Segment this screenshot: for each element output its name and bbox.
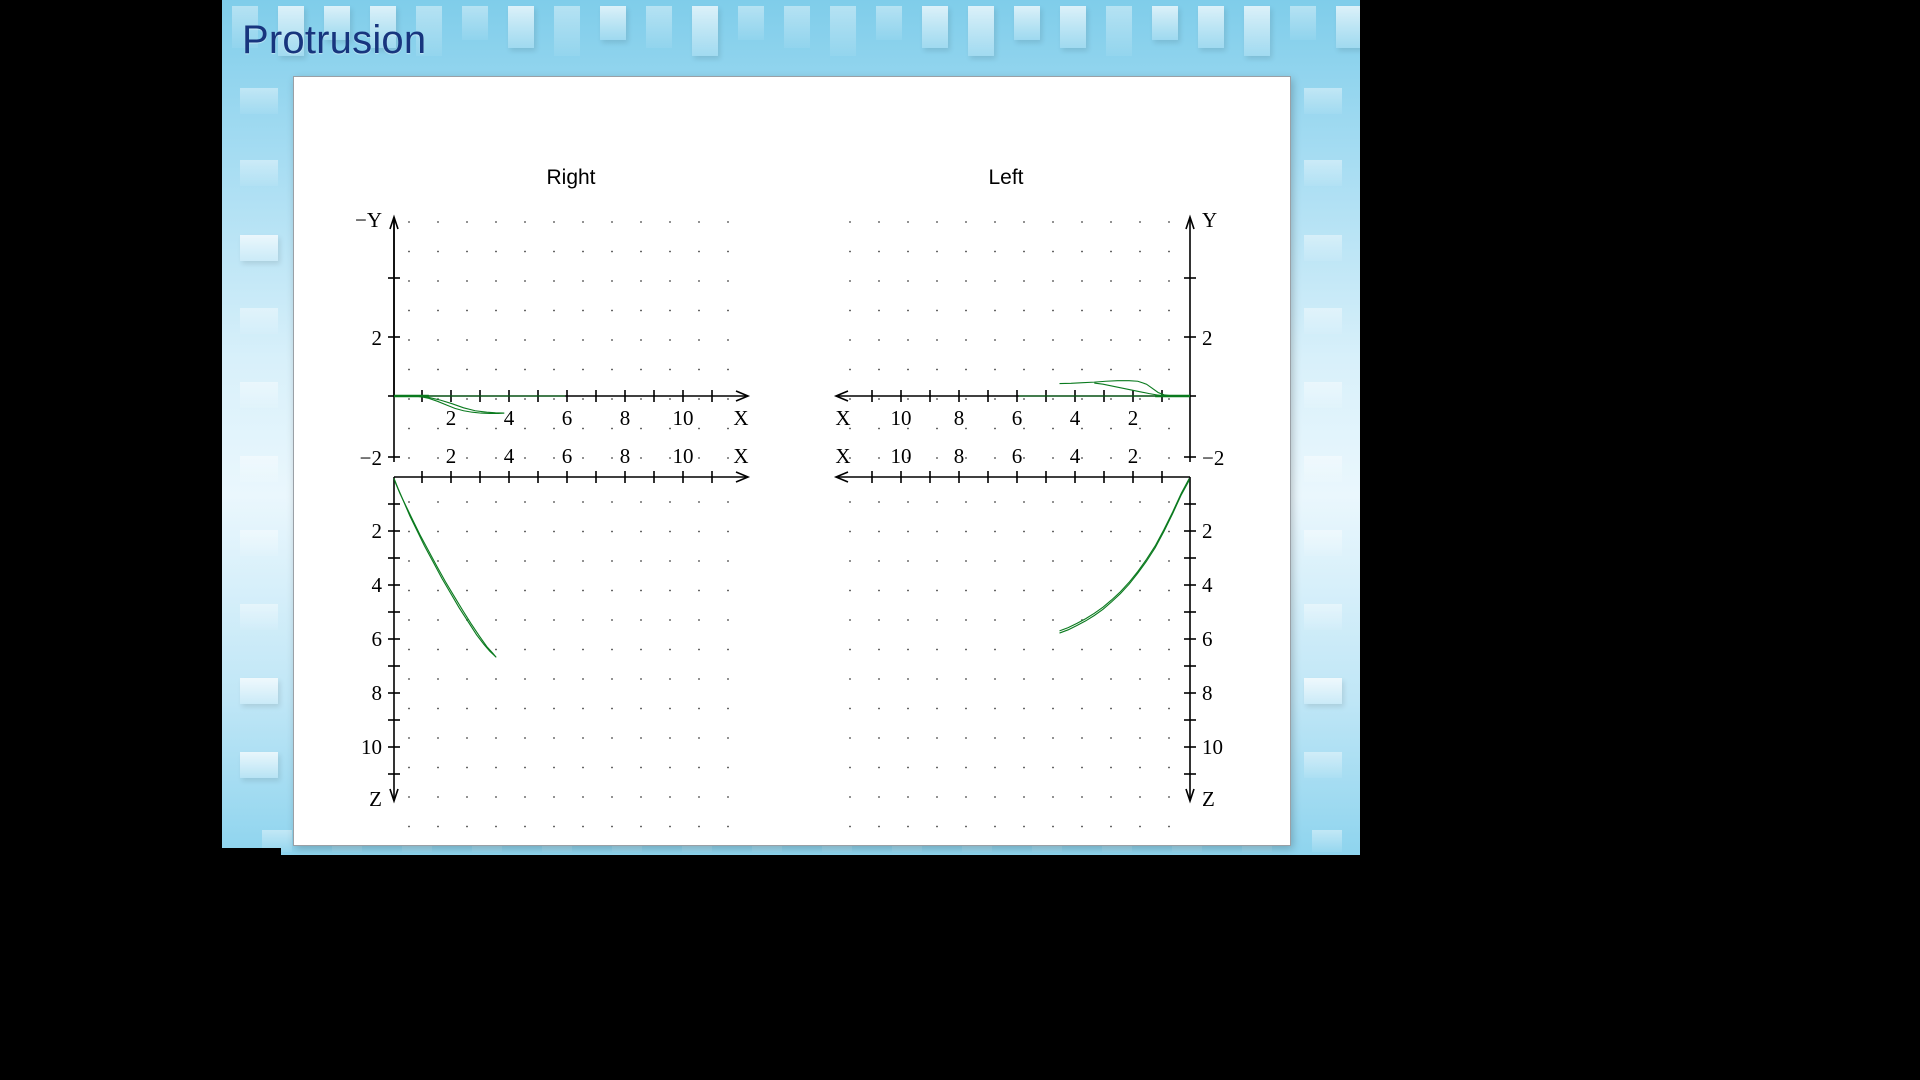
chart-right-xz-zlabel: Z bbox=[369, 787, 382, 811]
chart-left-xz-traces bbox=[1060, 478, 1190, 633]
chart-right-xy-xtick-4: 4 bbox=[504, 406, 515, 430]
chart-left-xy-title: Left bbox=[988, 166, 1023, 189]
chart-right-xz-ztick-2: 2 bbox=[372, 519, 383, 543]
chart-left-xz-xlabel: X bbox=[835, 444, 850, 468]
chart-right-xz-xtick-10: 10 bbox=[673, 444, 694, 468]
chart-left-xy-xtick-4: 4 bbox=[1070, 406, 1081, 430]
chart-left-xy-ytick-2: 2 bbox=[1202, 326, 1213, 350]
chart-right-xy-xtick-6: 6 bbox=[562, 406, 573, 430]
chart-right-xz-ztick-10: 10 bbox=[361, 735, 382, 759]
chart-right-xy-ylabel: −Y bbox=[355, 208, 382, 232]
chart-right-xy-xtick-10: 10 bbox=[673, 406, 694, 430]
chart-left-xz-xtick-10: 10 bbox=[891, 444, 912, 468]
chart-canvas: Right −Y 2 −2 bbox=[293, 76, 1291, 846]
chart-right-xz-ztick-4: 4 bbox=[372, 573, 383, 597]
chart-right-xy-xtick-8: 8 bbox=[620, 406, 631, 430]
chart-right-xz-xtick-2: 2 bbox=[446, 444, 457, 468]
chart-left-xy-ytick-m2: −2 bbox=[1202, 446, 1224, 470]
chart-left-xy-xlabel: X bbox=[835, 406, 850, 430]
chart-left-xz-ztick-2: 2 bbox=[1202, 519, 1213, 543]
gamma-dental-logo: GAMMA DENTAL bbox=[222, 848, 281, 855]
chart-left-xz-ztick-8: 8 bbox=[1202, 681, 1213, 705]
chart-left-xy-ylabel: Y bbox=[1202, 208, 1217, 232]
four-quadrant-plot: Right −Y 2 −2 bbox=[294, 77, 1290, 845]
chart-right-xz-grid bbox=[408, 501, 729, 827]
chart-right-xy-ytick-m2: −2 bbox=[360, 446, 382, 470]
chart-left-xz-xtick-2: 2 bbox=[1128, 444, 1139, 468]
chart-right-xy-title: Right bbox=[546, 166, 595, 189]
chart-left-xz-ztick-4: 4 bbox=[1202, 573, 1213, 597]
chart-right-xy: Right −Y 2 −2 bbox=[355, 166, 749, 470]
chart-left-xz-xtick-6: 6 bbox=[1012, 444, 1023, 468]
chart-right-xz-ztick-6: 6 bbox=[372, 627, 383, 651]
chart-right-xz-ztick-8: 8 bbox=[372, 681, 383, 705]
slide-title: Protrusion bbox=[242, 18, 426, 63]
chart-right-xz-xlabel: X bbox=[733, 444, 748, 468]
chart-right-xy-ytick-2: 2 bbox=[372, 326, 383, 350]
chart-right-xz-xtick-6: 6 bbox=[562, 444, 573, 468]
chart-left-xz-grid bbox=[849, 501, 1170, 827]
chart-left-xy-xtick-8: 8 bbox=[954, 406, 965, 430]
chart-left-xy-xtick-10: 10 bbox=[891, 406, 912, 430]
chart-left-xy: Left Y 2 −2 bbox=[835, 166, 1224, 470]
chart-right-xy-xlabel: X bbox=[733, 406, 748, 430]
chart-left-xz-ztick-6: 6 bbox=[1202, 627, 1213, 651]
chart-right-xz-traces bbox=[394, 478, 496, 657]
chart-right-xz-xtick-4: 4 bbox=[504, 444, 515, 468]
chart-right-xz: 2 4 6 8 10 X bbox=[361, 444, 749, 827]
chart-left-xz-ztick-10: 10 bbox=[1202, 735, 1223, 759]
chart-right-xy-xtick-2: 2 bbox=[446, 406, 457, 430]
chart-left-xy-xtick-6: 6 bbox=[1012, 406, 1023, 430]
chart-left-xz: X 10 8 6 4 2 bbox=[835, 444, 1223, 827]
presentation-slide: Protrusion Right −Y 2 −2 bbox=[222, 0, 1360, 855]
chart-left-xz-xtick-8: 8 bbox=[954, 444, 965, 468]
chart-left-xz-xtick-4: 4 bbox=[1070, 444, 1081, 468]
chart-left-xy-xtick-2: 2 bbox=[1128, 406, 1139, 430]
chart-left-xz-zlabel: Z bbox=[1202, 787, 1215, 811]
chart-right-xz-xtick-8: 8 bbox=[620, 444, 631, 468]
